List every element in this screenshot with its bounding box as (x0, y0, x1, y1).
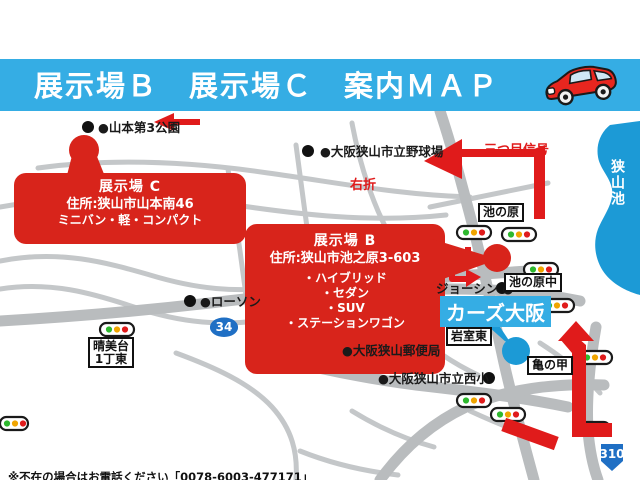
dealer-name-badge[interactable]: カーズ大阪 (440, 296, 551, 327)
callout-b-address: 住所:狭山市池之原3-603 (245, 250, 445, 267)
route-310-number: 310 (599, 447, 624, 461)
intersection-ikenohara-naka: 池の原中 (504, 273, 562, 292)
intersection-harumidai-line2: 1丁東 (95, 352, 127, 366)
callout-b-item-0: ・ハイブリッド (245, 271, 445, 286)
callout-b-item-3: ・ステーションワゴン (245, 316, 445, 331)
lake-sayama (595, 121, 640, 295)
route-34-number: 34 (216, 320, 233, 334)
label-baseball-stadium: ●大阪狭山市立野球場 (320, 141, 443, 160)
red-car-icon (536, 62, 624, 108)
page-title: 展示場Ｂ 展示場Ｃ 案内ＭＡＰ (34, 66, 514, 106)
intersection-harumidai: 晴美台 1丁東 (88, 337, 134, 368)
label-yamamoto-park: ●山本第3公園 (98, 117, 180, 136)
intersection-ikenohara: 池の原 (478, 203, 524, 222)
label-post-office: ●大阪狭山郵便局 (342, 340, 440, 359)
label-joshin: ジョーシン ● (436, 278, 514, 297)
route-shield-34-label: 34 (210, 318, 238, 337)
callout-c-address: 住所:狭山市山本南46 (14, 196, 246, 213)
intersection-kamenoko: 亀の甲 (527, 356, 573, 375)
note-line-1: ※不在の場合はお電話ください「0078-6003-477171」 (8, 469, 308, 480)
intersection-iwamuro-higashi: 岩室東 (446, 327, 492, 346)
annotation-right-turn: 右折 (350, 174, 376, 193)
route-shield-310-label: 310 (599, 444, 625, 466)
callout-showroom-c[interactable]: 展示場 C 住所:狭山市山本南46 ミニバン・軽・コンパクト (14, 173, 246, 244)
callout-c-item-0: ミニバン・軽・コンパクト (14, 213, 246, 228)
label-nishi-elementary: ●大阪狭山市立西小 (378, 368, 489, 387)
map-canvas: 展示場 C 住所:狭山市山本南46 ミニバン・軽・コンパクト 展示場 B 住所:… (0, 111, 640, 480)
contact-note: ※不在の場合はお電話ください「0078-6003-477171」 すぐにスタッフ… (8, 469, 308, 480)
callout-b-item-1: ・セダン (245, 286, 445, 301)
annotation-third-signal: 三つ目信号 (484, 139, 549, 158)
map-flyer: 展示場Ｂ 展示場Ｃ 案内ＭＡＰ (0, 0, 640, 480)
callout-b-item-2: ・SUV (245, 301, 445, 316)
callout-b-title: 展示場 B (245, 232, 445, 250)
label-lawson: ●ローソン (200, 291, 261, 310)
label-lake-sayama: 狭山池 (607, 159, 627, 207)
callout-c-title: 展示場 C (14, 178, 246, 196)
